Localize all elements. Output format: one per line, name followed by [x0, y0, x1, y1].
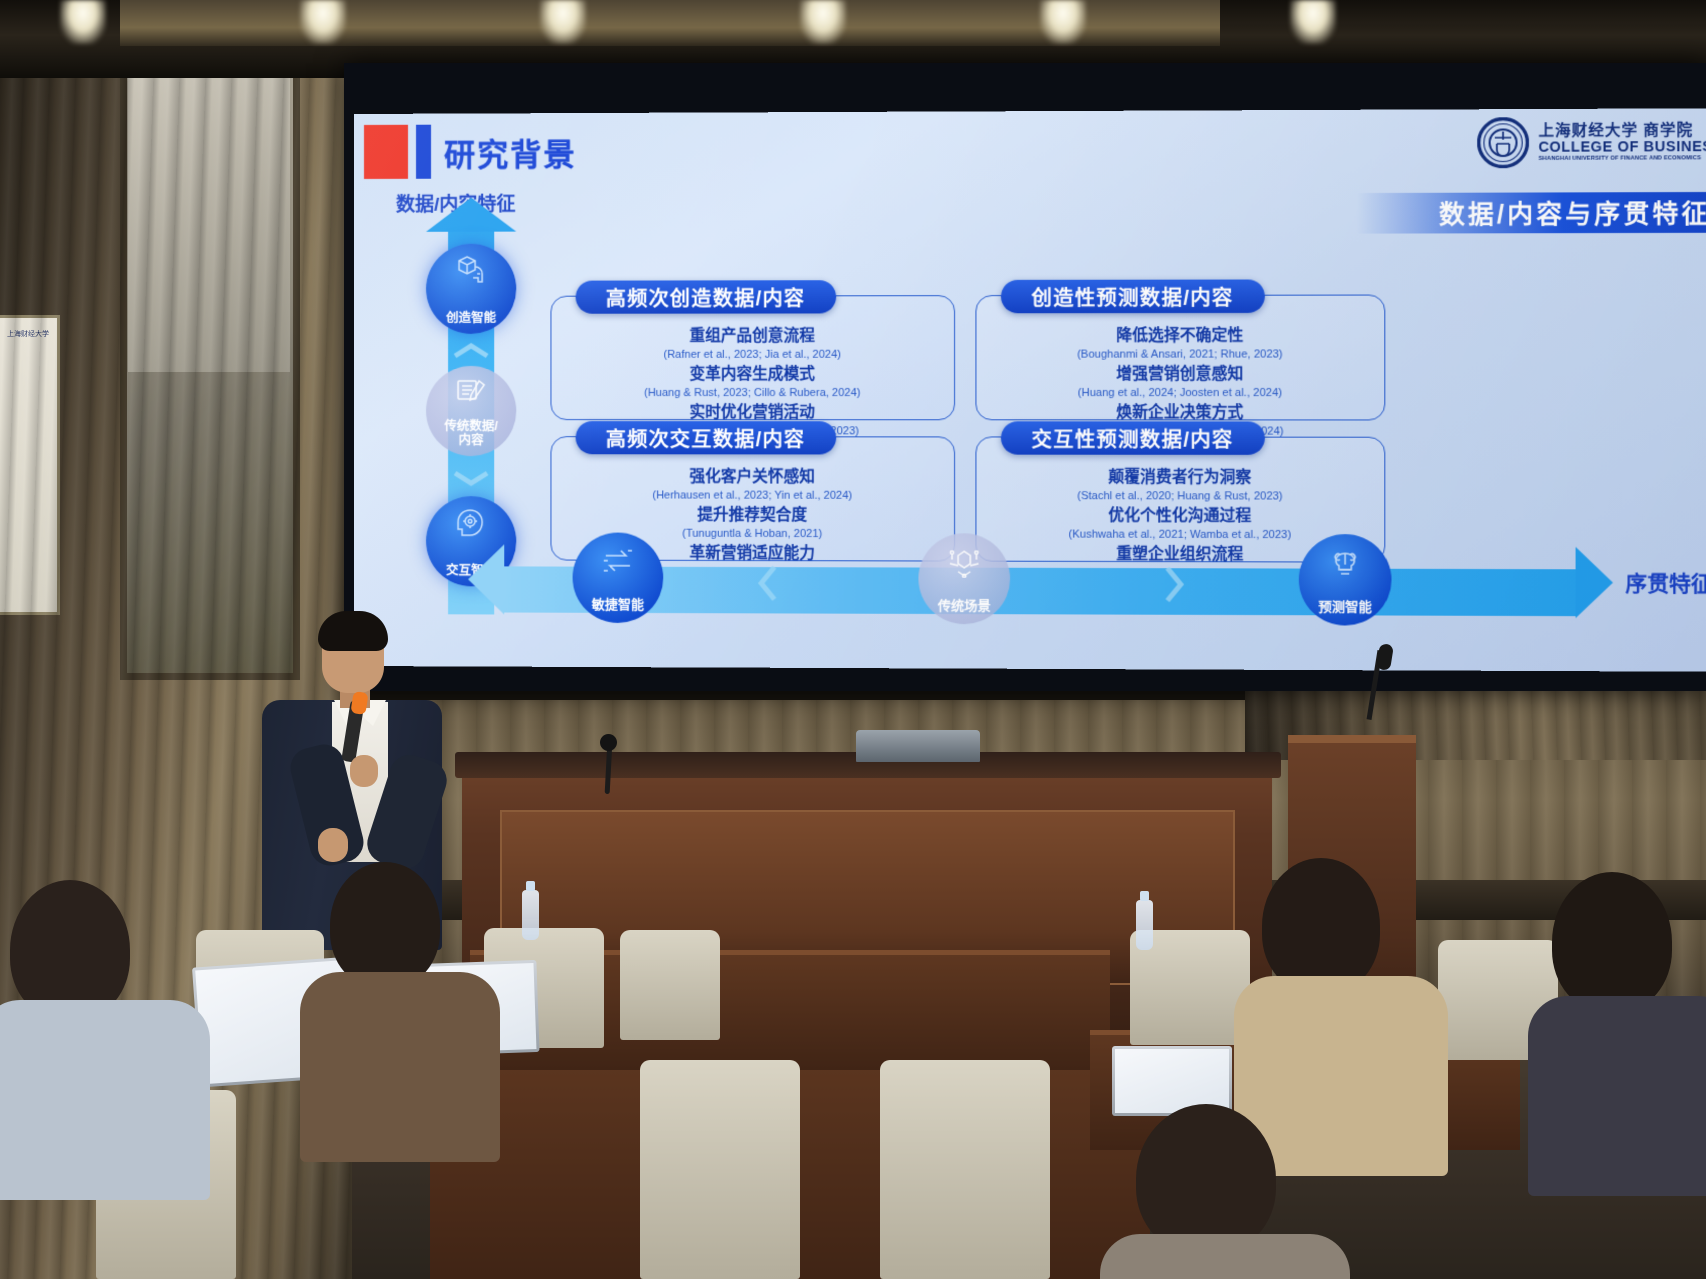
box-item-cite: (Stachl et al., 2020; Huang & Rust, 2023…: [987, 489, 1374, 506]
box-title: 交互性预测数据/内容: [1001, 421, 1265, 455]
document-pen-icon: [426, 377, 516, 405]
x-node-agile: 敏捷智能: [573, 532, 664, 623]
ceiling-light: [540, 0, 586, 44]
box-top-right: 创造性预测数据/内容 降低选择不确定性 (Boughanmi & Ansari,…: [975, 295, 1385, 421]
exchange-arrows-icon: [573, 547, 664, 577]
cube-head-icon: [426, 255, 516, 285]
presenter-hair: [318, 611, 388, 651]
chevron-down-icon: [452, 470, 490, 487]
audience-chair: [620, 930, 720, 1040]
logo-en-name: COLLEGE OF BUSINESS: [1538, 138, 1706, 155]
x-node-label: 敏捷智能: [592, 594, 644, 613]
y-node-label: 传统数据/ 内容: [444, 419, 498, 447]
box-item-main: 颠覆消费者行为洞察: [987, 468, 1374, 490]
y-node-label: 创造智能: [446, 311, 496, 325]
y-node-creative: 创造智能: [426, 244, 516, 334]
logo-cn-name: 上海财经大学 商学院: [1538, 122, 1706, 139]
ceiling-light: [60, 0, 106, 44]
horizontal-axis-arrow: [504, 566, 1575, 616]
ceiling-light: [1290, 0, 1336, 44]
x-node-traditional-scene: 传统场景: [918, 533, 1010, 624]
vertical-arrow-head: [426, 198, 516, 232]
podium-microphone-head: [600, 734, 617, 751]
box-item-cite: (Kushwaha et al., 2021; Wamba et al., 20…: [987, 527, 1374, 544]
wall-certificate: 上海财经大学: [0, 315, 60, 615]
box-item-cite: (Rafner et al., 2023; Jia et al., 2024): [562, 348, 944, 364]
university-logo: 上海财经大学 商学院 COLLEGE OF BUSINESS SHANGHAI …: [1477, 116, 1706, 168]
ceiling-light: [300, 0, 346, 44]
water-bottle: [522, 890, 539, 940]
podium-laptop: [856, 730, 980, 762]
page-title: 研究背景: [444, 129, 577, 175]
brain-icon: [1299, 548, 1392, 579]
horizontal-arrow-head-left: [468, 544, 504, 614]
water-bottle: [1136, 900, 1153, 950]
ceiling-light: [800, 0, 846, 44]
box-item-main: 变革内容生成模式: [562, 365, 944, 386]
presentation-slide: 研究背景 上海财经大学 商学院 COLLEGE OF BUSINESS SHAN…: [354, 108, 1706, 672]
box-item-main: 提升推荐契合度: [562, 505, 944, 527]
gear-head-icon: [426, 507, 516, 537]
presenter-right-hand: [350, 755, 378, 787]
chevron-left-icon: [756, 563, 778, 603]
box-item-main: 降低选择不确定性: [987, 326, 1374, 347]
header-red-block: [364, 125, 408, 179]
x-node-label: 传统场景: [938, 595, 991, 614]
network-hex-icon: [918, 547, 1010, 578]
conference-room: 上海财经大学 研究背景 上海财经大学 商学院 C: [0, 0, 1706, 1279]
box-title: 高频次创造数据/内容: [576, 280, 836, 314]
chevron-up-icon: [452, 342, 490, 359]
horizontal-arrow-head-right: [1576, 547, 1613, 618]
x-node-predictive: 预测智能: [1299, 534, 1392, 626]
box-item-main: 重组产品创意流程: [562, 326, 944, 347]
y-node-traditional: 传统数据/ 内容: [426, 366, 516, 456]
header-blue-block: [416, 125, 431, 179]
wall-window-glass: [128, 72, 290, 372]
ceiling-light: [1040, 0, 1086, 44]
audience-chair: [640, 1060, 800, 1279]
box-item-cite: (Boughanmi & Ansari, 2021; Rhue, 2023): [987, 347, 1374, 363]
audience-chair: [880, 1060, 1050, 1279]
seal-icon: [1477, 117, 1529, 168]
box-title: 创造性预测数据/内容: [1001, 279, 1265, 313]
box-top-left: 高频次创造数据/内容 重组产品创意流程 (Rafner et al., 2023…: [550, 295, 955, 420]
x-axis-label: 序贯特征: [1625, 567, 1706, 598]
box-item-main: 优化个性化沟通过程: [987, 506, 1374, 528]
presenter-left-hand: [318, 828, 348, 862]
section-banner: 数据/内容与序贯特征: [1357, 192, 1706, 234]
box-title: 高频次交互数据/内容: [576, 421, 836, 454]
x-node-label: 预测智能: [1318, 596, 1372, 615]
box-item-main: 增强营销创意感知: [987, 364, 1374, 385]
box-item-cite: (Herhausen et al., 2023; Yin et al., 202…: [562, 488, 944, 505]
box-item-cite: (Huang et al., 2024; Joosten et al., 202…: [987, 386, 1374, 402]
chevron-right-icon: [1163, 564, 1186, 605]
box-item-cite: (Huang & Rust, 2023; Cillo & Rubera, 202…: [562, 386, 944, 402]
box-item-main: 强化客户关怀感知: [562, 467, 944, 489]
logo-en-sub: SHANGHAI UNIVERSITY OF FINANCE AND ECONO…: [1538, 155, 1706, 162]
wall-window-panel: [120, 60, 300, 680]
